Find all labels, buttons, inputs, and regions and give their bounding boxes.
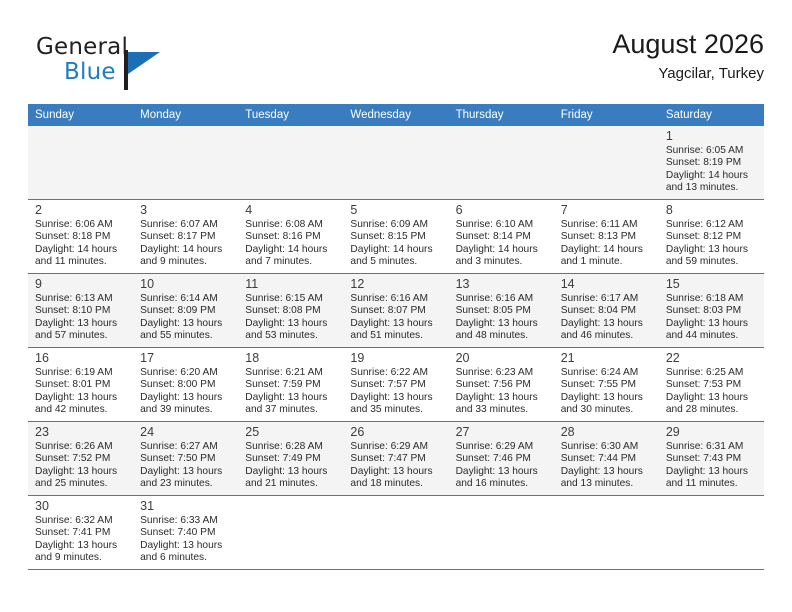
sunset-text: Sunset: 8:16 PM bbox=[245, 231, 337, 243]
sunrise-text: Sunrise: 6:14 AM bbox=[140, 293, 232, 305]
day-number: 4 bbox=[245, 203, 337, 218]
day-details: Sunrise: 6:06 AM Sunset: 8:18 PM Dayligh… bbox=[35, 219, 127, 268]
sunset-text: Sunset: 8:19 PM bbox=[666, 157, 758, 169]
sunrise-text: Sunrise: 6:12 AM bbox=[666, 219, 758, 231]
day-cell[interactable]: 5 Sunrise: 6:09 AM Sunset: 8:15 PM Dayli… bbox=[343, 200, 448, 274]
sunset-text: Sunset: 7:55 PM bbox=[561, 379, 653, 391]
day-number: 6 bbox=[456, 203, 548, 218]
day-details: Sunrise: 6:19 AM Sunset: 8:01 PM Dayligh… bbox=[35, 367, 127, 416]
day-details: Sunrise: 6:33 AM Sunset: 7:40 PM Dayligh… bbox=[140, 515, 232, 564]
sunset-text: Sunset: 8:04 PM bbox=[561, 305, 653, 317]
daylight-text-line2: and 25 minutes. bbox=[35, 478, 127, 490]
daylight-text-line1: Daylight: 14 hours bbox=[35, 244, 127, 256]
day-number: 19 bbox=[350, 351, 442, 366]
sunrise-text: Sunrise: 6:27 AM bbox=[140, 441, 232, 453]
day-cell[interactable]: 4 Sunrise: 6:08 AM Sunset: 8:16 PM Dayli… bbox=[238, 200, 343, 274]
day-details: Sunrise: 6:10 AM Sunset: 8:14 PM Dayligh… bbox=[456, 219, 548, 268]
daylight-text-line2: and 35 minutes. bbox=[350, 404, 442, 416]
day-number: 29 bbox=[666, 425, 758, 440]
sunset-text: Sunset: 8:13 PM bbox=[561, 231, 653, 243]
day-cell[interactable]: 17 Sunrise: 6:20 AM Sunset: 8:00 PM Dayl… bbox=[133, 348, 238, 422]
day-number: 9 bbox=[35, 277, 127, 292]
day-cell[interactable]: 9 Sunrise: 6:13 AM Sunset: 8:10 PM Dayli… bbox=[28, 274, 133, 348]
sunrise-text: Sunrise: 6:08 AM bbox=[245, 219, 337, 231]
day-cell[interactable]: 15 Sunrise: 6:18 AM Sunset: 8:03 PM Dayl… bbox=[659, 274, 764, 348]
sunrise-text: Sunrise: 6:09 AM bbox=[350, 219, 442, 231]
sunset-text: Sunset: 7:43 PM bbox=[666, 453, 758, 465]
day-cell[interactable]: 16 Sunrise: 6:19 AM Sunset: 8:01 PM Dayl… bbox=[28, 348, 133, 422]
day-details: Sunrise: 6:32 AM Sunset: 7:41 PM Dayligh… bbox=[35, 515, 127, 564]
day-number: 17 bbox=[140, 351, 232, 366]
sunset-text: Sunset: 8:17 PM bbox=[140, 231, 232, 243]
day-cell[interactable]: 2 Sunrise: 6:06 AM Sunset: 8:18 PM Dayli… bbox=[28, 200, 133, 274]
weekday-header-sunday: Sunday bbox=[28, 104, 133, 126]
daylight-text-line2: and 46 minutes. bbox=[561, 330, 653, 342]
daylight-text-line1: Daylight: 13 hours bbox=[666, 466, 758, 478]
day-details: Sunrise: 6:14 AM Sunset: 8:09 PM Dayligh… bbox=[140, 293, 232, 342]
daylight-text-line2: and 33 minutes. bbox=[456, 404, 548, 416]
day-cell-empty bbox=[133, 126, 238, 200]
calendar-body: 1 Sunrise: 6:05 AM Sunset: 8:19 PM Dayli… bbox=[28, 126, 764, 570]
day-number: 14 bbox=[561, 277, 653, 292]
calendar-week-row: 23 Sunrise: 6:26 AM Sunset: 7:52 PM Dayl… bbox=[28, 422, 764, 496]
daylight-text-line2: and 16 minutes. bbox=[456, 478, 548, 490]
sunset-text: Sunset: 8:09 PM bbox=[140, 305, 232, 317]
day-number: 30 bbox=[35, 499, 127, 514]
day-cell-empty bbox=[554, 126, 659, 200]
daylight-text-line1: Daylight: 14 hours bbox=[561, 244, 653, 256]
day-cell-empty bbox=[554, 496, 659, 570]
day-details: Sunrise: 6:12 AM Sunset: 8:12 PM Dayligh… bbox=[666, 219, 758, 268]
day-number: 24 bbox=[140, 425, 232, 440]
day-cell[interactable]: 19 Sunrise: 6:22 AM Sunset: 7:57 PM Dayl… bbox=[343, 348, 448, 422]
daylight-text-line2: and 7 minutes. bbox=[245, 256, 337, 268]
daylight-text-line1: Daylight: 13 hours bbox=[561, 318, 653, 330]
daylight-text-line1: Daylight: 13 hours bbox=[350, 466, 442, 478]
sunrise-text: Sunrise: 6:29 AM bbox=[350, 441, 442, 453]
day-details: Sunrise: 6:29 AM Sunset: 7:47 PM Dayligh… bbox=[350, 441, 442, 490]
daylight-text-line1: Daylight: 14 hours bbox=[666, 170, 758, 182]
day-number: 21 bbox=[561, 351, 653, 366]
day-cell-empty bbox=[659, 496, 764, 570]
day-details: Sunrise: 6:05 AM Sunset: 8:19 PM Dayligh… bbox=[666, 145, 758, 194]
sunrise-text: Sunrise: 6:28 AM bbox=[245, 441, 337, 453]
sunset-text: Sunset: 7:41 PM bbox=[35, 527, 127, 539]
day-cell[interactable]: 28 Sunrise: 6:30 AM Sunset: 7:44 PM Dayl… bbox=[554, 422, 659, 496]
calendar-week-row: 2 Sunrise: 6:06 AM Sunset: 8:18 PM Dayli… bbox=[28, 200, 764, 274]
sunset-text: Sunset: 8:18 PM bbox=[35, 231, 127, 243]
day-details: Sunrise: 6:20 AM Sunset: 8:00 PM Dayligh… bbox=[140, 367, 232, 416]
day-cell[interactable]: 25 Sunrise: 6:28 AM Sunset: 7:49 PM Dayl… bbox=[238, 422, 343, 496]
daylight-text-line1: Daylight: 13 hours bbox=[140, 540, 232, 552]
daylight-text-line2: and 37 minutes. bbox=[245, 404, 337, 416]
day-cell[interactable]: 7 Sunrise: 6:11 AM Sunset: 8:13 PM Dayli… bbox=[554, 200, 659, 274]
day-details: Sunrise: 6:07 AM Sunset: 8:17 PM Dayligh… bbox=[140, 219, 232, 268]
day-cell[interactable]: 10 Sunrise: 6:14 AM Sunset: 8:09 PM Dayl… bbox=[133, 274, 238, 348]
day-number: 23 bbox=[35, 425, 127, 440]
day-details: Sunrise: 6:22 AM Sunset: 7:57 PM Dayligh… bbox=[350, 367, 442, 416]
day-number: 11 bbox=[245, 277, 337, 292]
daylight-text-line1: Daylight: 14 hours bbox=[140, 244, 232, 256]
daylight-text-line2: and 30 minutes. bbox=[561, 404, 653, 416]
daylight-text-line1: Daylight: 13 hours bbox=[140, 392, 232, 404]
calendar-week-row: 1 Sunrise: 6:05 AM Sunset: 8:19 PM Dayli… bbox=[28, 126, 764, 200]
sunrise-text: Sunrise: 6:21 AM bbox=[245, 367, 337, 379]
daylight-text-line2: and 44 minutes. bbox=[666, 330, 758, 342]
daylight-text-line1: Daylight: 13 hours bbox=[456, 318, 548, 330]
daylight-text-line1: Daylight: 13 hours bbox=[561, 466, 653, 478]
sunrise-text: Sunrise: 6:16 AM bbox=[456, 293, 548, 305]
sunrise-text: Sunrise: 6:11 AM bbox=[561, 219, 653, 231]
sunset-text: Sunset: 7:56 PM bbox=[456, 379, 548, 391]
sunset-text: Sunset: 7:47 PM bbox=[350, 453, 442, 465]
daylight-text-line1: Daylight: 13 hours bbox=[35, 318, 127, 330]
day-details: Sunrise: 6:18 AM Sunset: 8:03 PM Dayligh… bbox=[666, 293, 758, 342]
daylight-text-line1: Daylight: 13 hours bbox=[666, 318, 758, 330]
sunrise-text: Sunrise: 6:26 AM bbox=[35, 441, 127, 453]
day-details: Sunrise: 6:16 AM Sunset: 8:05 PM Dayligh… bbox=[456, 293, 548, 342]
daylight-text-line1: Daylight: 13 hours bbox=[245, 392, 337, 404]
sunrise-text: Sunrise: 6:15 AM bbox=[245, 293, 337, 305]
sunrise-text: Sunrise: 6:06 AM bbox=[35, 219, 127, 231]
day-number: 13 bbox=[456, 277, 548, 292]
title-block: August 2026 Yagcilar, Turkey bbox=[612, 28, 764, 85]
daylight-text-line2: and 57 minutes. bbox=[35, 330, 127, 342]
day-cell[interactable]: 31 Sunrise: 6:33 AM Sunset: 7:40 PM Dayl… bbox=[133, 496, 238, 570]
sunrise-text: Sunrise: 6:19 AM bbox=[35, 367, 127, 379]
day-cell[interactable]: 26 Sunrise: 6:29 AM Sunset: 7:47 PM Dayl… bbox=[343, 422, 448, 496]
daylight-text-line1: Daylight: 14 hours bbox=[245, 244, 337, 256]
day-details: Sunrise: 6:26 AM Sunset: 7:52 PM Dayligh… bbox=[35, 441, 127, 490]
daylight-text-line1: Daylight: 13 hours bbox=[35, 466, 127, 478]
sunrise-text: Sunrise: 6:33 AM bbox=[140, 515, 232, 527]
day-number: 20 bbox=[456, 351, 548, 366]
day-number: 25 bbox=[245, 425, 337, 440]
sunrise-text: Sunrise: 6:07 AM bbox=[140, 219, 232, 231]
day-cell[interactable]: 27 Sunrise: 6:29 AM Sunset: 7:46 PM Dayl… bbox=[449, 422, 554, 496]
day-cell[interactable]: 29 Sunrise: 6:31 AM Sunset: 7:43 PM Dayl… bbox=[659, 422, 764, 496]
weekday-header-thursday: Thursday bbox=[449, 104, 554, 126]
calendar-header-row: Sunday Monday Tuesday Wednesday Thursday… bbox=[28, 104, 764, 126]
day-number: 15 bbox=[666, 277, 758, 292]
day-number: 16 bbox=[35, 351, 127, 366]
daylight-text-line2: and 53 minutes. bbox=[245, 330, 337, 342]
weekday-header-wednesday: Wednesday bbox=[343, 104, 448, 126]
sunset-text: Sunset: 8:03 PM bbox=[666, 305, 758, 317]
day-cell[interactable]: 21 Sunrise: 6:24 AM Sunset: 7:55 PM Dayl… bbox=[554, 348, 659, 422]
daylight-text-line1: Daylight: 13 hours bbox=[666, 244, 758, 256]
day-details: Sunrise: 6:24 AM Sunset: 7:55 PM Dayligh… bbox=[561, 367, 653, 416]
sunset-text: Sunset: 8:15 PM bbox=[350, 231, 442, 243]
sunrise-text: Sunrise: 6:29 AM bbox=[456, 441, 548, 453]
sunset-text: Sunset: 7:52 PM bbox=[35, 453, 127, 465]
daylight-text-line2: and 9 minutes. bbox=[140, 256, 232, 268]
daylight-text-line2: and 13 minutes. bbox=[666, 182, 758, 194]
daylight-text-line2: and 18 minutes. bbox=[350, 478, 442, 490]
day-details: Sunrise: 6:13 AM Sunset: 8:10 PM Dayligh… bbox=[35, 293, 127, 342]
day-details: Sunrise: 6:27 AM Sunset: 7:50 PM Dayligh… bbox=[140, 441, 232, 490]
day-number: 28 bbox=[561, 425, 653, 440]
calendar-table: Sunday Monday Tuesday Wednesday Thursday… bbox=[28, 104, 764, 570]
daylight-text-line2: and 13 minutes. bbox=[561, 478, 653, 490]
sunrise-text: Sunrise: 6:22 AM bbox=[350, 367, 442, 379]
sunrise-text: Sunrise: 6:25 AM bbox=[666, 367, 758, 379]
day-number: 27 bbox=[456, 425, 548, 440]
daylight-text-line1: Daylight: 13 hours bbox=[456, 392, 548, 404]
day-cell[interactable]: 8 Sunrise: 6:12 AM Sunset: 8:12 PM Dayli… bbox=[659, 200, 764, 274]
daylight-text-line2: and 1 minute. bbox=[561, 256, 653, 268]
daylight-text-line1: Daylight: 13 hours bbox=[245, 466, 337, 478]
logo-text-blue: Blue bbox=[64, 59, 116, 85]
sunrise-text: Sunrise: 6:17 AM bbox=[561, 293, 653, 305]
sunrise-text: Sunrise: 6:20 AM bbox=[140, 367, 232, 379]
logo-text-general: General bbox=[36, 34, 128, 60]
daylight-text-line1: Daylight: 13 hours bbox=[140, 466, 232, 478]
calendar-page: General Blue August 2026 Yagcilar, Turke… bbox=[0, 0, 792, 612]
day-details: Sunrise: 6:21 AM Sunset: 7:59 PM Dayligh… bbox=[245, 367, 337, 416]
day-cell-empty bbox=[343, 496, 448, 570]
page-title: August 2026 bbox=[612, 28, 764, 60]
daylight-text-line2: and 39 minutes. bbox=[140, 404, 232, 416]
day-number: 7 bbox=[561, 203, 653, 218]
day-details: Sunrise: 6:30 AM Sunset: 7:44 PM Dayligh… bbox=[561, 441, 653, 490]
day-number: 8 bbox=[666, 203, 758, 218]
day-cell[interactable]: 23 Sunrise: 6:26 AM Sunset: 7:52 PM Dayl… bbox=[28, 422, 133, 496]
general-blue-logo[interactable]: General Blue bbox=[36, 34, 216, 90]
page-subtitle-location: Yagcilar, Turkey bbox=[612, 63, 764, 85]
day-cell[interactable]: 20 Sunrise: 6:23 AM Sunset: 7:56 PM Dayl… bbox=[449, 348, 554, 422]
day-cell[interactable]: 6 Sunrise: 6:10 AM Sunset: 8:14 PM Dayli… bbox=[449, 200, 554, 274]
day-cell[interactable]: 24 Sunrise: 6:27 AM Sunset: 7:50 PM Dayl… bbox=[133, 422, 238, 496]
daylight-text-line2: and 51 minutes. bbox=[350, 330, 442, 342]
calendar-week-row: 9 Sunrise: 6:13 AM Sunset: 8:10 PM Dayli… bbox=[28, 274, 764, 348]
day-cell-empty bbox=[238, 126, 343, 200]
day-number: 10 bbox=[140, 277, 232, 292]
day-cell[interactable]: 11 Sunrise: 6:15 AM Sunset: 8:08 PM Dayl… bbox=[238, 274, 343, 348]
day-number: 31 bbox=[140, 499, 232, 514]
sunset-text: Sunset: 7:50 PM bbox=[140, 453, 232, 465]
day-details: Sunrise: 6:09 AM Sunset: 8:15 PM Dayligh… bbox=[350, 219, 442, 268]
sunset-text: Sunset: 7:49 PM bbox=[245, 453, 337, 465]
day-details: Sunrise: 6:11 AM Sunset: 8:13 PM Dayligh… bbox=[561, 219, 653, 268]
day-details: Sunrise: 6:15 AM Sunset: 8:08 PM Dayligh… bbox=[245, 293, 337, 342]
daylight-text-line2: and 3 minutes. bbox=[456, 256, 548, 268]
sunset-text: Sunset: 8:07 PM bbox=[350, 305, 442, 317]
day-details: Sunrise: 6:08 AM Sunset: 8:16 PM Dayligh… bbox=[245, 219, 337, 268]
calendar-week-row: 16 Sunrise: 6:19 AM Sunset: 8:01 PM Dayl… bbox=[28, 348, 764, 422]
day-cell[interactable]: 12 Sunrise: 6:16 AM Sunset: 8:07 PM Dayl… bbox=[343, 274, 448, 348]
sunrise-text: Sunrise: 6:10 AM bbox=[456, 219, 548, 231]
daylight-text-line2: and 59 minutes. bbox=[666, 256, 758, 268]
daylight-text-line1: Daylight: 14 hours bbox=[350, 244, 442, 256]
daylight-text-line2: and 9 minutes. bbox=[35, 552, 127, 564]
day-cell-empty bbox=[28, 126, 133, 200]
daylight-text-line1: Daylight: 13 hours bbox=[666, 392, 758, 404]
sunset-text: Sunset: 8:10 PM bbox=[35, 305, 127, 317]
day-cell[interactable]: 3 Sunrise: 6:07 AM Sunset: 8:17 PM Dayli… bbox=[133, 200, 238, 274]
sunset-text: Sunset: 8:05 PM bbox=[456, 305, 548, 317]
sunrise-text: Sunrise: 6:13 AM bbox=[35, 293, 127, 305]
sunrise-text: Sunrise: 6:31 AM bbox=[666, 441, 758, 453]
daylight-text-line2: and 5 minutes. bbox=[350, 256, 442, 268]
day-cell[interactable]: 14 Sunrise: 6:17 AM Sunset: 8:04 PM Dayl… bbox=[554, 274, 659, 348]
day-number: 18 bbox=[245, 351, 337, 366]
sunset-text: Sunset: 8:08 PM bbox=[245, 305, 337, 317]
day-number: 12 bbox=[350, 277, 442, 292]
day-cell[interactable]: 22 Sunrise: 6:25 AM Sunset: 7:53 PM Dayl… bbox=[659, 348, 764, 422]
daylight-text-line2: and 6 minutes. bbox=[140, 552, 232, 564]
calendar-week-row: 30 Sunrise: 6:32 AM Sunset: 7:41 PM Dayl… bbox=[28, 496, 764, 570]
sunrise-text: Sunrise: 6:18 AM bbox=[666, 293, 758, 305]
day-cell-empty bbox=[449, 496, 554, 570]
daylight-text-line2: and 55 minutes. bbox=[140, 330, 232, 342]
sunset-text: Sunset: 8:01 PM bbox=[35, 379, 127, 391]
sunrise-text: Sunrise: 6:30 AM bbox=[561, 441, 653, 453]
page-header: General Blue August 2026 Yagcilar, Turke… bbox=[28, 28, 764, 96]
weekday-header-tuesday: Tuesday bbox=[238, 104, 343, 126]
daylight-text-line2: and 11 minutes. bbox=[35, 256, 127, 268]
day-number: 5 bbox=[350, 203, 442, 218]
sunrise-text: Sunrise: 6:32 AM bbox=[35, 515, 127, 527]
daylight-text-line1: Daylight: 13 hours bbox=[245, 318, 337, 330]
weekday-header-monday: Monday bbox=[133, 104, 238, 126]
sunset-text: Sunset: 8:12 PM bbox=[666, 231, 758, 243]
day-details: Sunrise: 6:16 AM Sunset: 8:07 PM Dayligh… bbox=[350, 293, 442, 342]
day-cell-empty bbox=[343, 126, 448, 200]
day-details: Sunrise: 6:23 AM Sunset: 7:56 PM Dayligh… bbox=[456, 367, 548, 416]
day-details: Sunrise: 6:28 AM Sunset: 7:49 PM Dayligh… bbox=[245, 441, 337, 490]
day-details: Sunrise: 6:31 AM Sunset: 7:43 PM Dayligh… bbox=[666, 441, 758, 490]
daylight-text-line2: and 21 minutes. bbox=[245, 478, 337, 490]
day-details: Sunrise: 6:25 AM Sunset: 7:53 PM Dayligh… bbox=[666, 367, 758, 416]
daylight-text-line2: and 48 minutes. bbox=[456, 330, 548, 342]
daylight-text-line1: Daylight: 13 hours bbox=[561, 392, 653, 404]
day-cell[interactable]: 13 Sunrise: 6:16 AM Sunset: 8:05 PM Dayl… bbox=[449, 274, 554, 348]
day-number: 26 bbox=[350, 425, 442, 440]
day-cell-empty bbox=[238, 496, 343, 570]
sunset-text: Sunset: 7:59 PM bbox=[245, 379, 337, 391]
sunrise-text: Sunrise: 6:23 AM bbox=[456, 367, 548, 379]
daylight-text-line1: Daylight: 13 hours bbox=[350, 318, 442, 330]
sunrise-text: Sunrise: 6:16 AM bbox=[350, 293, 442, 305]
weekday-header-friday: Friday bbox=[554, 104, 659, 126]
day-number: 2 bbox=[35, 203, 127, 218]
daylight-text-line2: and 42 minutes. bbox=[35, 404, 127, 416]
sunset-text: Sunset: 8:00 PM bbox=[140, 379, 232, 391]
daylight-text-line2: and 28 minutes. bbox=[666, 404, 758, 416]
weekday-header-saturday: Saturday bbox=[659, 104, 764, 126]
day-cell[interactable]: 18 Sunrise: 6:21 AM Sunset: 7:59 PM Dayl… bbox=[238, 348, 343, 422]
sunset-text: Sunset: 7:57 PM bbox=[350, 379, 442, 391]
daylight-text-line1: Daylight: 13 hours bbox=[350, 392, 442, 404]
day-details: Sunrise: 6:29 AM Sunset: 7:46 PM Dayligh… bbox=[456, 441, 548, 490]
flag-triangle-shape bbox=[128, 52, 160, 74]
flag-triangle-icon bbox=[124, 42, 160, 80]
day-details: Sunrise: 6:17 AM Sunset: 8:04 PM Dayligh… bbox=[561, 293, 653, 342]
sunrise-text: Sunrise: 6:24 AM bbox=[561, 367, 653, 379]
sunset-text: Sunset: 7:46 PM bbox=[456, 453, 548, 465]
day-number: 22 bbox=[666, 351, 758, 366]
sunset-text: Sunset: 7:53 PM bbox=[666, 379, 758, 391]
daylight-text-line1: Daylight: 13 hours bbox=[35, 392, 127, 404]
sunset-text: Sunset: 8:14 PM bbox=[456, 231, 548, 243]
day-cell[interactable]: 30 Sunrise: 6:32 AM Sunset: 7:41 PM Dayl… bbox=[28, 496, 133, 570]
daylight-text-line1: Daylight: 14 hours bbox=[456, 244, 548, 256]
daylight-text-line1: Daylight: 13 hours bbox=[35, 540, 127, 552]
daylight-text-line1: Daylight: 13 hours bbox=[456, 466, 548, 478]
daylight-text-line2: and 23 minutes. bbox=[140, 478, 232, 490]
day-cell-empty bbox=[449, 126, 554, 200]
daylight-text-line2: and 11 minutes. bbox=[666, 478, 758, 490]
sunset-text: Sunset: 7:44 PM bbox=[561, 453, 653, 465]
day-number: 1 bbox=[666, 129, 758, 144]
day-number: 3 bbox=[140, 203, 232, 218]
sunset-text: Sunset: 7:40 PM bbox=[140, 527, 232, 539]
daylight-text-line1: Daylight: 13 hours bbox=[140, 318, 232, 330]
sunrise-text: Sunrise: 6:05 AM bbox=[666, 145, 758, 157]
day-cell[interactable]: 1 Sunrise: 6:05 AM Sunset: 8:19 PM Dayli… bbox=[659, 126, 764, 200]
